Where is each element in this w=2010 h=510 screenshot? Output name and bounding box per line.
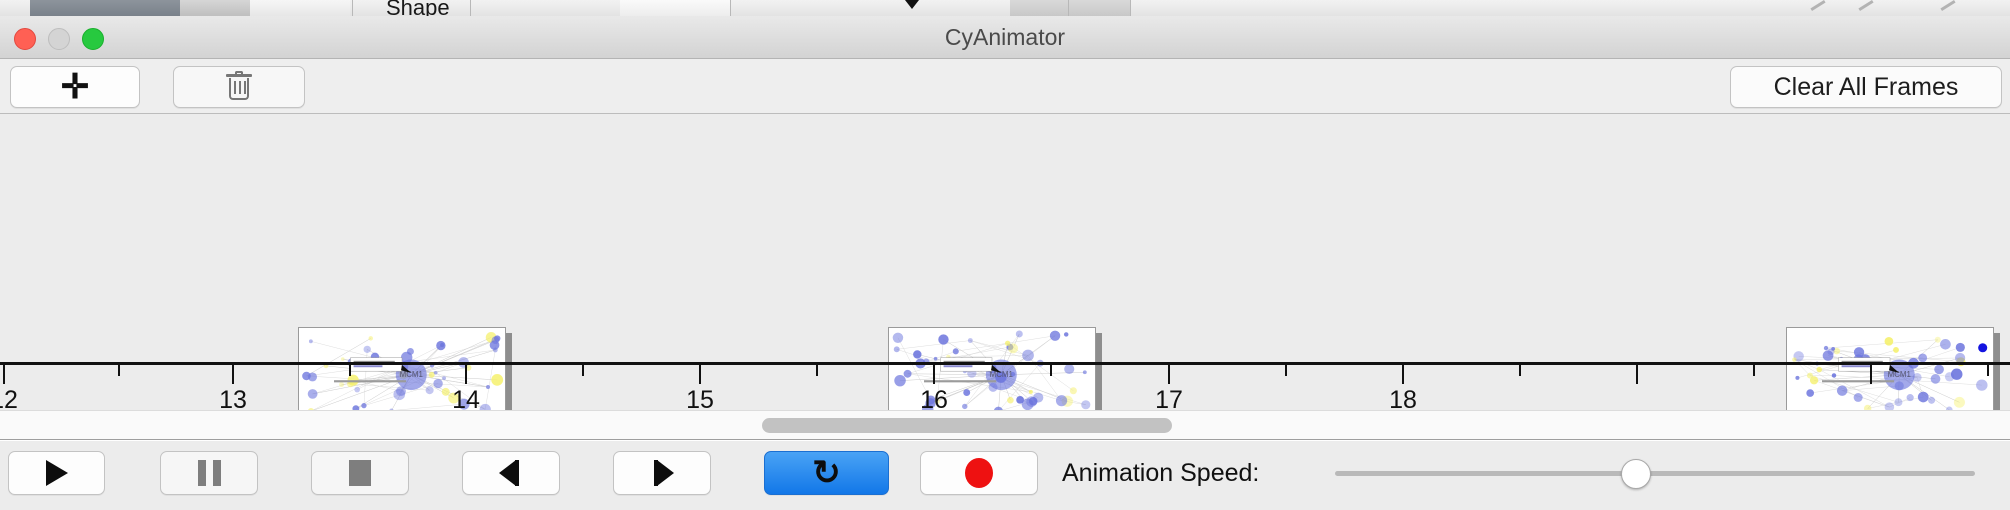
record-button[interactable] — [920, 451, 1038, 495]
axis-tick — [816, 365, 818, 376]
background-divider — [1068, 0, 1069, 16]
axis-tick-label: 17 — [1155, 386, 1183, 410]
slider-track — [1335, 471, 1975, 476]
playback-control-bar: ↻ Animation Speed: — [0, 440, 2010, 506]
window-titlebar[interactable]: CyAnimator — [0, 16, 2010, 59]
play-button[interactable] — [8, 451, 105, 495]
background-chevron-icon — [1940, 0, 1955, 11]
axis-tick — [1519, 365, 1521, 376]
pause-button[interactable] — [160, 451, 258, 495]
axis-tick-label: 13 — [219, 386, 247, 410]
axis-tick — [118, 365, 120, 376]
axis-tick — [349, 365, 351, 376]
scrollbar-thumb[interactable] — [762, 418, 1172, 433]
animation-speed-label: Animation Speed: — [1062, 451, 1259, 495]
loop-icon: ↻ — [812, 456, 841, 490]
background-window-label: Shape — [386, 0, 450, 16]
record-icon — [965, 458, 993, 488]
stop-button[interactable] — [311, 451, 409, 495]
slider-thumb[interactable] — [1621, 459, 1651, 489]
background-chevron-icon — [1858, 0, 1873, 11]
timeline-frame[interactable]: MCM1 — [1786, 327, 1994, 410]
background-cell — [250, 0, 350, 16]
frame-thumbnail[interactable]: MCM1 — [1786, 327, 1994, 410]
axis-tick — [1050, 365, 1052, 376]
axis-tick-label: 18 — [1389, 386, 1417, 410]
background-toolbar-fragment — [180, 0, 250, 16]
axis-tick-label: 12 — [0, 386, 18, 410]
skip-back-button[interactable] — [462, 451, 560, 495]
axis-tick — [1753, 365, 1755, 376]
axis-tick — [1636, 365, 1638, 384]
background-window-strip: Shape — [0, 0, 2010, 16]
trash-icon — [226, 72, 252, 102]
background-cell — [1010, 0, 1130, 16]
add-frame-button[interactable]: ✛ — [10, 66, 140, 108]
window-title: CyAnimator — [0, 16, 2010, 59]
background-chevron-icon — [1810, 0, 1825, 11]
axis-tick — [1168, 365, 1170, 384]
skip-back-icon — [498, 460, 524, 486]
background-cell — [620, 0, 730, 16]
plus-icon: ✛ — [61, 70, 90, 104]
timeline-panel[interactable]: MCM1MCM1MCM1 12131415161718 Seconds — [0, 114, 2010, 410]
axis-tick — [1870, 365, 1872, 384]
background-divider — [730, 0, 731, 16]
axis-tick-label: 16 — [920, 386, 948, 410]
svg-text:MCM1: MCM1 — [400, 370, 423, 379]
background-divider — [470, 0, 471, 16]
svg-text:MCM1: MCM1 — [990, 370, 1013, 379]
svg-text:MCM1: MCM1 — [1888, 370, 1911, 379]
timeline-scrollbar[interactable] — [0, 410, 2010, 440]
background-divider — [352, 0, 353, 16]
timeline-axis — [0, 362, 2010, 365]
frame-toolbar: ✛ Clear All Frames — [0, 59, 2010, 114]
axis-tick — [232, 365, 234, 384]
axis-tick — [699, 365, 701, 384]
axis-tick — [465, 365, 467, 384]
stop-icon — [349, 460, 371, 486]
background-titlebar-fragment — [30, 0, 180, 16]
axis-tick-label: 15 — [686, 386, 714, 410]
play-icon — [46, 460, 68, 486]
delete-frame-button[interactable] — [173, 66, 305, 108]
background-sort-arrow-icon — [905, 0, 919, 9]
pause-icon — [198, 460, 221, 486]
cyanimator-window: CyAnimator ✛ Clear All Frames MCM1MCM1MC… — [0, 16, 2010, 510]
axis-tick — [1285, 365, 1287, 376]
axis-tick — [582, 365, 584, 376]
loop-button[interactable]: ↻ — [764, 451, 889, 495]
axis-tick — [933, 365, 935, 384]
axis-tick — [1402, 365, 1404, 384]
axis-tick — [3, 365, 5, 384]
axis-tick-label: 14 — [452, 386, 480, 410]
background-divider — [1130, 0, 1131, 16]
skip-forward-icon — [649, 460, 675, 486]
axis-tick — [1987, 365, 1989, 376]
clear-all-frames-button[interactable]: Clear All Frames — [1730, 66, 2002, 108]
animation-speed-slider[interactable] — [1335, 451, 1975, 495]
skip-forward-button[interactable] — [613, 451, 711, 495]
